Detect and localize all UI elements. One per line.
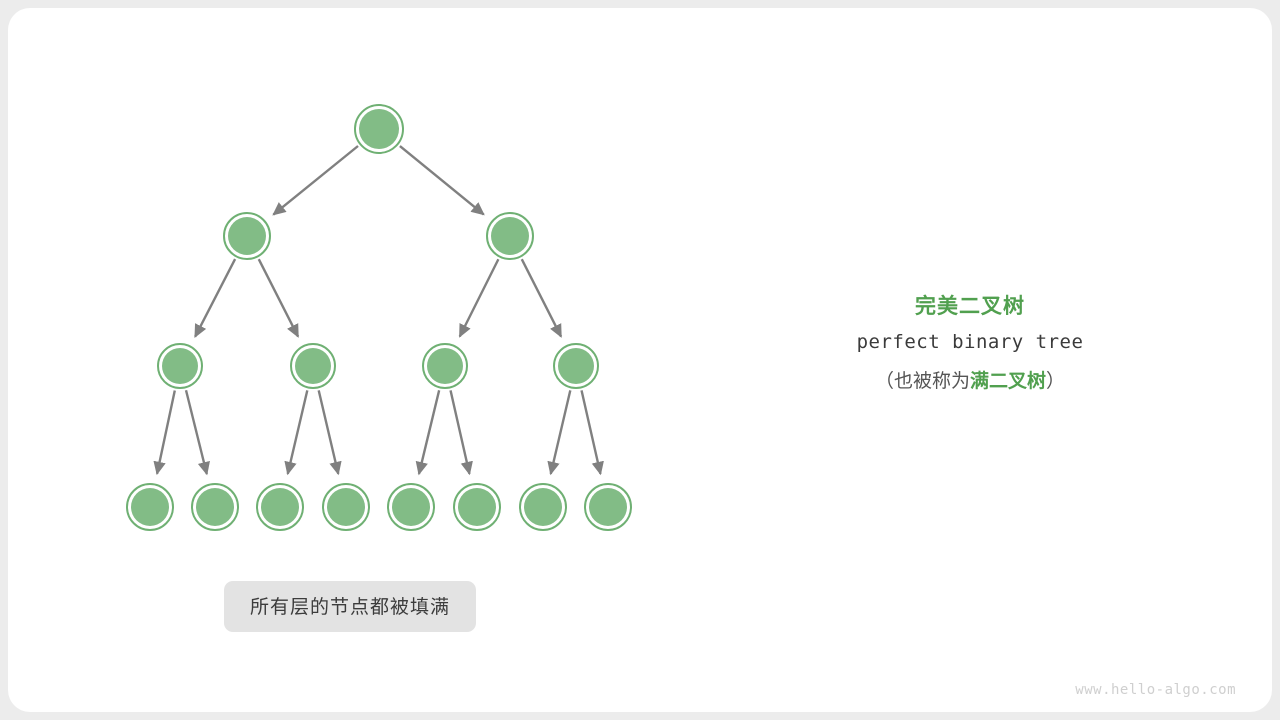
tree-edge-layer xyxy=(157,146,600,474)
legend-english-term: perfect binary tree xyxy=(790,322,1150,362)
tree-edge xyxy=(460,259,499,336)
tree-node-core xyxy=(196,488,234,526)
tree-edge xyxy=(451,390,470,473)
tree-node xyxy=(257,484,303,530)
legend-alt-highlight: 满二叉树 xyxy=(970,371,1046,392)
tree-node xyxy=(520,484,566,530)
site-watermark: www.hello-algo.com xyxy=(1075,682,1236,698)
tree-node xyxy=(554,344,598,388)
tree-node xyxy=(127,484,173,530)
tree-node-core xyxy=(558,348,594,384)
tree-edge xyxy=(288,390,308,474)
tree-edge xyxy=(582,390,601,473)
tree-edge xyxy=(400,146,484,214)
tree-edge xyxy=(186,390,207,474)
tree-node xyxy=(454,484,500,530)
tree-node xyxy=(585,484,631,530)
tree-edge xyxy=(195,259,235,337)
tree-node-core xyxy=(295,348,331,384)
tree-node xyxy=(291,344,335,388)
tree-node xyxy=(224,213,270,259)
tree-edge xyxy=(273,146,358,215)
tree-node-core xyxy=(261,488,299,526)
tree-node-core xyxy=(524,488,562,526)
tree-node xyxy=(423,344,467,388)
diagram-caption: 所有层的节点都被填满 xyxy=(224,581,476,632)
tree-edge xyxy=(419,390,439,474)
diagram-canvas: 完美二叉树 perfect binary tree （也被称为满二叉树） 所有层… xyxy=(0,0,1280,720)
tree-edge xyxy=(157,390,175,473)
legend-alternate-name: （也被称为满二叉树） xyxy=(790,362,1150,402)
tree-node xyxy=(158,344,202,388)
tree-node xyxy=(487,213,533,259)
tree-node-core xyxy=(427,348,463,384)
tree-node-layer xyxy=(127,105,631,530)
tree-node-core xyxy=(359,109,399,149)
tree-node xyxy=(388,484,434,530)
tree-edge xyxy=(319,390,339,474)
tree-node-core xyxy=(458,488,496,526)
tree-edge xyxy=(522,259,561,336)
tree-edge xyxy=(551,390,571,474)
tree-node-core xyxy=(228,217,266,255)
tree-node xyxy=(192,484,238,530)
legend-block: 完美二叉树 perfect binary tree （也被称为满二叉树） xyxy=(790,292,1150,402)
tree-node-core xyxy=(327,488,365,526)
legend-alt-prefix: （也被称为 xyxy=(875,371,970,392)
tree-node-core xyxy=(131,488,169,526)
legend-title: 完美二叉树 xyxy=(790,292,1150,322)
legend-alt-suffix: ） xyxy=(1046,371,1065,392)
tree-node-core xyxy=(589,488,627,526)
tree-node xyxy=(355,105,403,153)
tree-node-core xyxy=(162,348,198,384)
tree-node-core xyxy=(491,217,529,255)
tree-node xyxy=(323,484,369,530)
tree-edge xyxy=(259,259,298,336)
tree-node-core xyxy=(392,488,430,526)
